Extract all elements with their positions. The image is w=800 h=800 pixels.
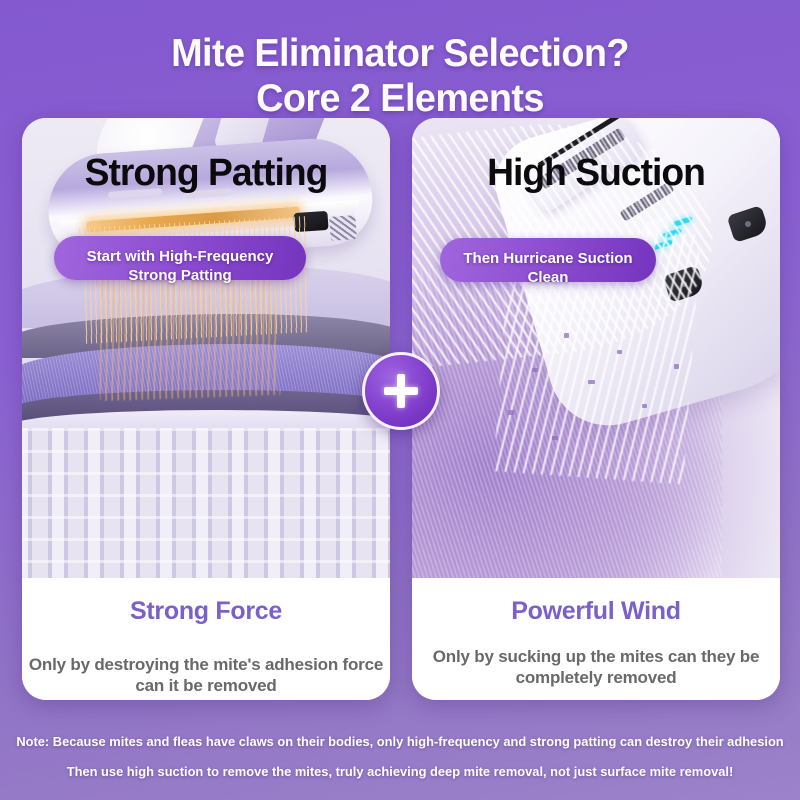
title-line-1: Mite Eliminator Selection? bbox=[12, 34, 788, 74]
dust-particle bbox=[617, 350, 622, 354]
caption-heading-powerful-wind: Powerful Wind bbox=[412, 598, 780, 625]
dust-particle bbox=[674, 364, 679, 369]
feature-card-strong-patting[interactable]: Strong Patting Start with High-Frequency… bbox=[22, 118, 390, 700]
photo-title-strong-patting: Strong Patting bbox=[26, 152, 387, 195]
badge-pill-strong-patting: Start with High-Frequency Strong Patting bbox=[54, 236, 306, 280]
footer-note: Note: Because mites and fleas have claws… bbox=[0, 726, 800, 796]
mattress-springs bbox=[22, 428, 390, 578]
dust-particle bbox=[508, 410, 514, 415]
dust-particle bbox=[588, 380, 595, 384]
dust-particle bbox=[564, 333, 569, 338]
caption-heading-strong-force: Strong Force bbox=[22, 598, 390, 625]
card-photo-high-suction: High Suction Then Hurricane Suction Clea… bbox=[412, 118, 780, 578]
device-mesh-panel bbox=[329, 215, 357, 241]
card-photo-strong-patting: Strong Patting Start with High-Frequency… bbox=[22, 118, 390, 578]
photo-title-high-suction: High Suction bbox=[416, 152, 777, 195]
card-caption-high-suction: Powerful Wind Only by sucking up the mit… bbox=[412, 578, 780, 700]
dust-particle bbox=[552, 436, 558, 440]
dust-particle bbox=[642, 404, 647, 408]
badge-pill-high-suction: Then Hurricane Suction Clean bbox=[440, 238, 656, 282]
caption-body-powerful-wind: Only by sucking up the mites can they be… bbox=[412, 646, 780, 688]
page-title: Mite Eliminator Selection? Core 2 Elemen… bbox=[0, 34, 800, 119]
plus-icon bbox=[362, 352, 440, 430]
footer-note-line-1: Note: Because mites and fleas have claws… bbox=[0, 734, 800, 749]
caption-body-strong-force: Only by destroying the mite's adhesion f… bbox=[22, 654, 390, 696]
badge-pill-label: Then Hurricane Suction Clean bbox=[442, 249, 654, 287]
footer-note-line-2: Then use high suction to remove the mite… bbox=[0, 764, 800, 779]
title-line-2: Core 2 Elements bbox=[12, 79, 788, 119]
feature-card-high-suction[interactable]: High Suction Then Hurricane Suction Clea… bbox=[412, 118, 780, 700]
card-caption-strong-patting: Strong Force Only by destroying the mite… bbox=[22, 578, 390, 700]
dust-particle bbox=[532, 368, 538, 372]
badge-pill-label: Start with High-Frequency Strong Patting bbox=[62, 247, 298, 285]
infographic-stage: Mite Eliminator Selection? Core 2 Elemen… bbox=[0, 0, 800, 800]
